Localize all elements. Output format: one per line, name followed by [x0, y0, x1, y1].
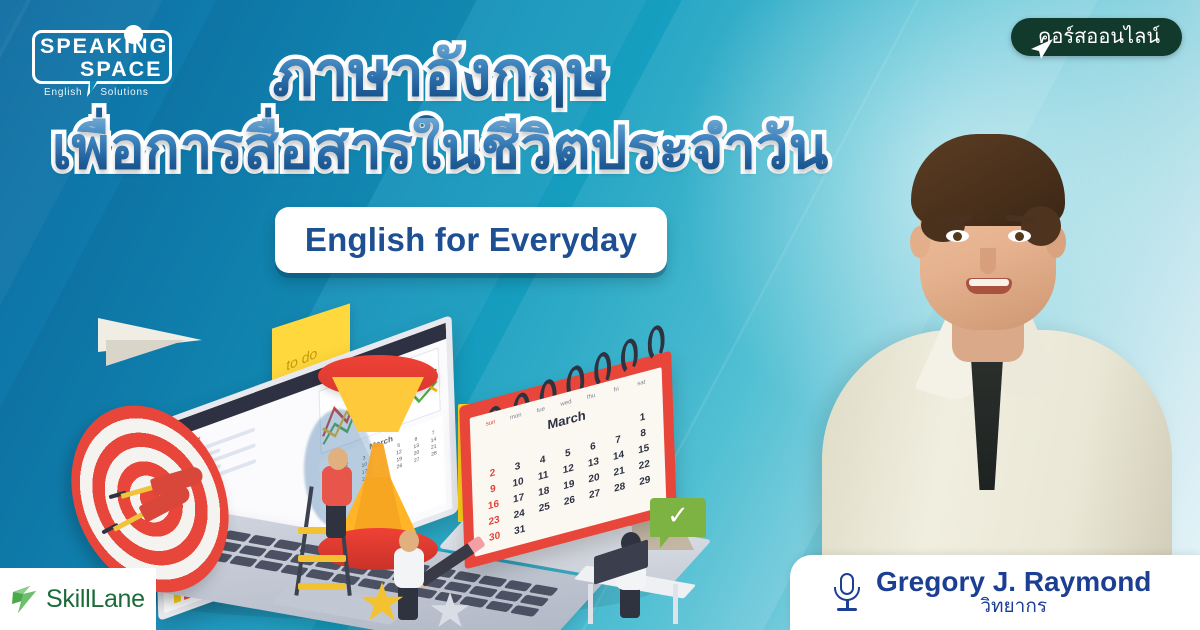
headline-row-1: ภาษาอังกฤษ ภาษาอังกฤษ: [0, 42, 880, 116]
person-at-desk: [580, 524, 700, 624]
headline-line-2: เพื่อการสื่อสารในชีวิตประจำวัน: [0, 118, 880, 179]
instructor-hair: [911, 134, 1065, 226]
skilllane-logo-panel[interactable]: SkillLane: [0, 568, 156, 630]
instructor-name-bar: Gregory J. Raymond วิทยากร: [790, 555, 1200, 630]
course-banner: SPEAKING SPACE English Solutions คอร์สออ…: [0, 0, 1200, 630]
instructor-name: Gregory J. Raymond: [876, 567, 1151, 596]
skilllane-wordmark: SkillLane: [46, 585, 145, 614]
subtitle-label: English for Everyday: [305, 221, 637, 259]
headline-block: ภาษาอังกฤษ ภาษาอังกฤษ เพื่อการสื่อสารในช…: [0, 42, 880, 188]
headline-row-2: เพื่อการสื่อสารในชีวิตประจำวัน เพื่อการส…: [0, 118, 880, 188]
skilllane-arrow-mark-icon: [10, 582, 40, 616]
instructor-photo: [780, 0, 1200, 630]
person-on-ladder: [296, 446, 386, 596]
microphone-icon: [834, 573, 860, 613]
instructor-role: วิทยากร: [980, 597, 1047, 618]
paper-airplane-illustration: [98, 318, 208, 380]
headline-line-1: ภาษาอังกฤษ: [0, 42, 880, 108]
person-with-pencil: [390, 540, 430, 620]
isometric-illustration: to do To Do List March 1234567 8: [60, 300, 820, 630]
subtitle-pill: English for Everyday: [275, 207, 667, 273]
dartboard-illustration: [60, 406, 240, 592]
